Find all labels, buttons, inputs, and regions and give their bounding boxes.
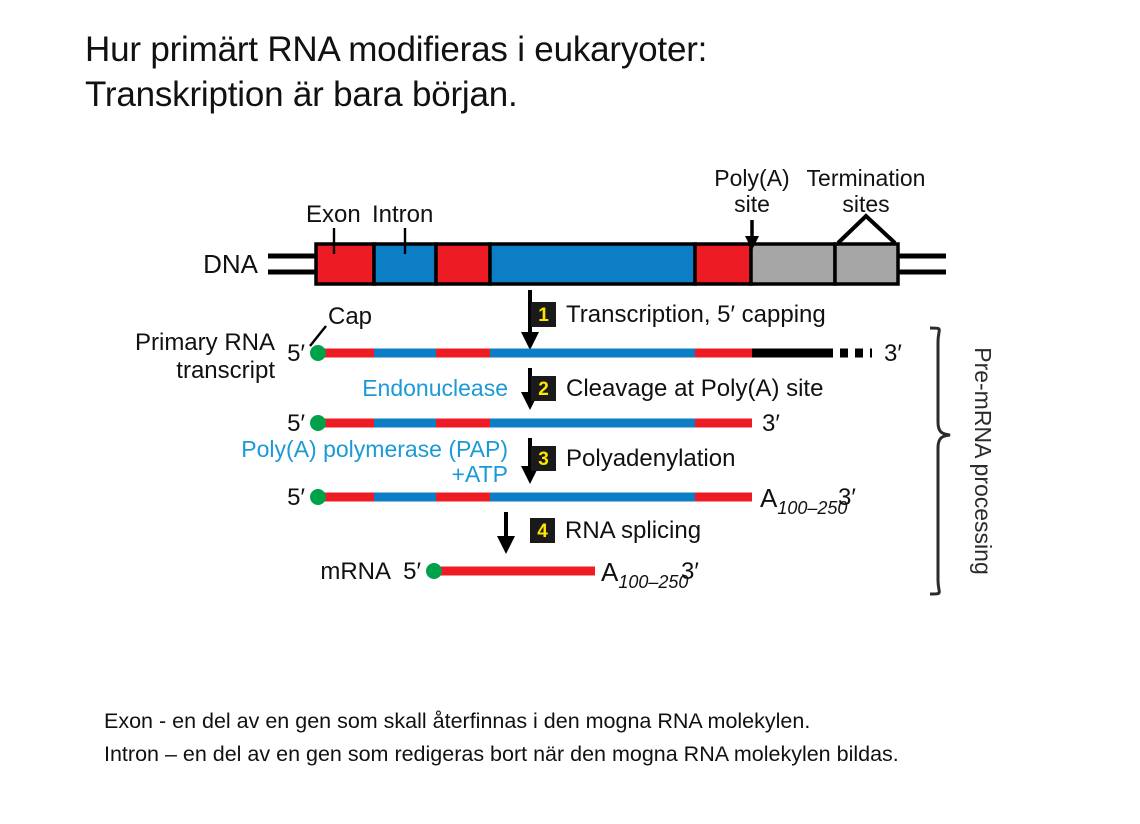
cap-dot-polya [310, 489, 326, 505]
mrna-label: mRNA [320, 558, 391, 585]
page-title: Hur primärt RNA modifieras i eukaryoter:… [85, 28, 985, 118]
dna-left-strand [268, 256, 318, 272]
pre-mrna-processing-bracket [930, 328, 950, 594]
title-line-2: Transkription är bara början. [85, 73, 985, 118]
definitions-caption: Exon - en del av en gen som skall återfi… [104, 705, 1104, 772]
polya-tail-base-mrna: A [601, 557, 619, 587]
step-3-number: 3 [538, 449, 549, 470]
step-2-number: 2 [538, 379, 549, 400]
polya-tail-base-row3: A [760, 483, 778, 513]
dna-intron-2 [490, 244, 695, 284]
step-1-number: 1 [538, 305, 549, 326]
cap-dot-mrna [426, 563, 442, 579]
dna-bar [316, 244, 898, 284]
title-line-1: Hur primärt RNA modifieras i eukaryoter: [85, 28, 985, 73]
step-2-text: Cleavage at Poly(A) site [566, 375, 823, 402]
polya-three-prime: 3′ [838, 484, 856, 511]
dna-downstream-1 [751, 244, 835, 284]
termination-site-marker [838, 216, 895, 243]
dna-exon-3 [695, 244, 751, 284]
dna-downstream-2 [835, 244, 898, 284]
pap-label: Poly(A) polymerase (PAP) [241, 436, 508, 462]
dna-exon-1 [316, 244, 374, 284]
primary-transcript-label-line2: transcript [176, 357, 275, 384]
dna-exon-2 [436, 244, 490, 284]
caption-line-exon: Exon - en del av en gen som skall återfi… [104, 705, 1104, 738]
primary-five-prime: 5′ [287, 340, 305, 367]
termination-label-line2: sites [842, 191, 889, 217]
cap-dot-primary [310, 345, 326, 361]
cap-leader-line [310, 326, 326, 346]
atp-label: +ATP [452, 461, 508, 487]
exon-label: Exon [306, 201, 361, 228]
step-1-text: Transcription, 5′ capping [566, 301, 826, 328]
caption-line-intron: Intron – en del av en gen som redigeras … [104, 738, 1104, 771]
polya-tail-label-row3: A100–250 [760, 483, 847, 518]
step-4-arrow [497, 512, 515, 554]
mrna-five-prime: 5′ [403, 558, 421, 585]
polya-site-label-line2: site [734, 191, 770, 217]
polya-site-label-line1: Poly(A) [714, 165, 789, 191]
diagram-canvas: DNA Exon Intron Poly(A) site Termination… [0, 150, 1140, 620]
endonuclease-label: Endonuclease [362, 375, 508, 401]
step-4-number: 4 [537, 521, 548, 542]
cleaved-five-prime: 5′ [287, 410, 305, 437]
polya-five-prime: 5′ [287, 484, 305, 511]
polya-tail-subscript-row3: 100–250 [777, 498, 847, 518]
pre-mrna-processing-label: Pre-mRNA processing [970, 347, 996, 575]
dna-label: DNA [203, 249, 259, 279]
cleaved-three-prime: 3′ [762, 410, 780, 437]
step-3-text: Polyadenylation [566, 445, 735, 472]
intron-label: Intron [372, 201, 433, 228]
polya-tail-subscript-mrna: 100–250 [618, 572, 688, 592]
step-4-text: RNA splicing [565, 517, 701, 544]
cap-label: Cap [328, 303, 372, 330]
rna-processing-diagram: DNA Exon Intron Poly(A) site Termination… [0, 150, 1140, 620]
dna-right-strand [896, 256, 946, 272]
termination-label-line1: Termination [807, 165, 926, 191]
mrna-three-prime: 3′ [681, 558, 699, 585]
cap-dot-cleaved [310, 415, 326, 431]
primary-three-prime: 3′ [884, 340, 902, 367]
polya-tail-label-mrna: A100–250 [601, 557, 688, 592]
primary-transcript-label-line1: Primary RNA [135, 329, 275, 356]
